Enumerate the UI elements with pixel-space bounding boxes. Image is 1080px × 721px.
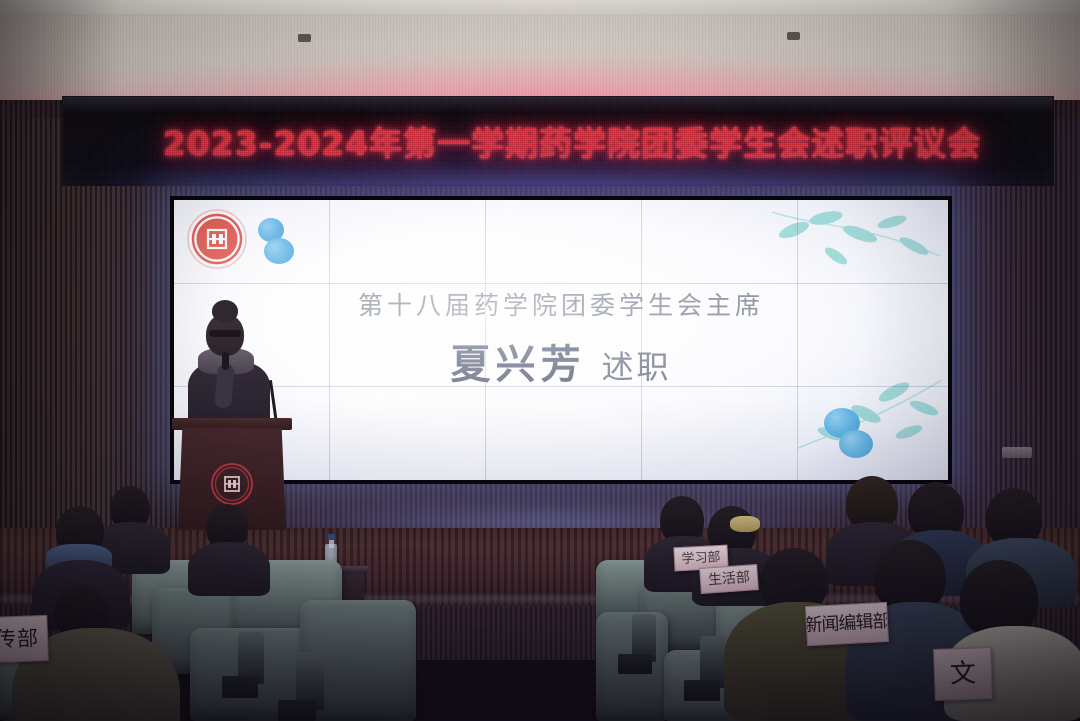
placard-label: 学习部 (681, 550, 721, 565)
slide-name-row: 夏兴芳述职 (174, 332, 948, 390)
placard-wenyi: 文 (933, 647, 993, 701)
screen-seam-v3 (641, 200, 642, 480)
placard-xuanchuan: 传部 (0, 615, 49, 663)
projection-screen: 第十八届药学院团委学生会主席 夏兴芳述职 (174, 200, 948, 480)
light-switch-plate[interactable] (1002, 447, 1032, 458)
microphone (222, 352, 229, 370)
placard-xinwen: 新闻编辑部 (805, 602, 889, 646)
placard-label: 文 (950, 661, 977, 688)
leaf-sprig-top-right (764, 204, 944, 286)
screen-seam-h1 (174, 283, 948, 284)
water-bottle-neck (329, 539, 334, 548)
speaker-hair-bun (212, 300, 238, 322)
ceiling-edge-trim (0, 0, 1080, 14)
university-seal-logo-slide (186, 208, 248, 270)
placard-label: 传部 (0, 628, 39, 651)
screen-seam-v1 (329, 200, 330, 480)
seat-hinge-right-1 (618, 654, 652, 674)
projection-screen-frame: 第十八届药学院团委学生会主席 夏兴芳述职 (170, 196, 952, 484)
berry-decoration-4 (839, 430, 873, 458)
screen-seam-v2 (485, 200, 486, 480)
screen-seam-v4 (797, 200, 798, 480)
seat-hinge-left-2 (278, 700, 316, 721)
slide-subtitle: 第十八届药学院团委学生会主席 (174, 286, 948, 322)
ceiling-vent-right (787, 32, 800, 40)
water-bottle-cap (328, 534, 335, 540)
auditorium-photo: 2023-2024年第一学期药学院团委学生会述职评议会 (0, 0, 1080, 721)
screen-seam-h2 (174, 386, 948, 387)
seat-hinge-right-2 (684, 680, 720, 701)
placard-label: 新闻编辑部 (805, 613, 889, 635)
ceiling-vent-left (298, 34, 311, 42)
led-banner: 2023-2024年第一学期药学院团委学生会述职评议会 (62, 96, 1054, 186)
university-seal-logo-podium (210, 462, 254, 506)
seat-hinge-left-1 (222, 676, 258, 698)
placard-label: 生活部 (708, 571, 751, 588)
person-shoulders (188, 542, 270, 596)
led-pixel-grid (63, 97, 1053, 185)
placard-shenghuo: 生活部 (699, 564, 759, 594)
berry-decoration-2 (264, 238, 294, 264)
slide-action-text: 述职 (601, 348, 671, 386)
speaker-glasses (209, 330, 241, 337)
slide-speaker-name: 夏兴芳 (450, 341, 585, 388)
person-hairband (730, 516, 760, 532)
